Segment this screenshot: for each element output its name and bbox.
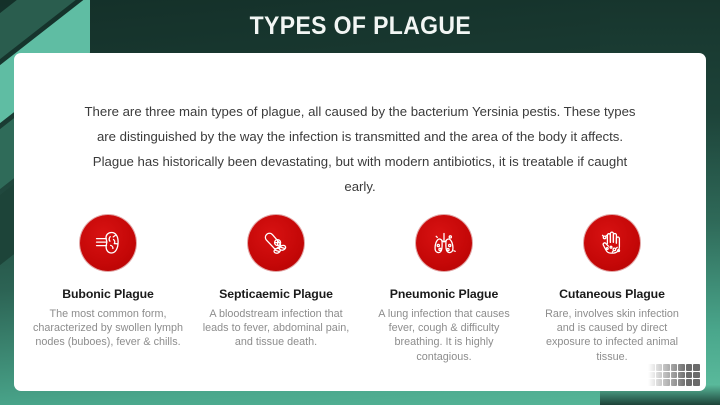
plague-type-description: A lung infection that causes fever, coug… [368,307,520,364]
plague-type-card[interactable]: Pneumonic Plague A lung infection that c… [360,215,528,364]
plague-type-description: Rare, involves skin infection and is cau… [536,307,688,364]
dot [693,364,700,371]
dot [671,364,678,371]
plague-type-card[interactable]: Septicaemic Plague A bloodstream infecti… [192,215,360,364]
plague-type-description: A bloodstream infection that leads to fe… [200,307,352,350]
dot [686,364,693,371]
decorative-dot-grid [648,364,700,386]
lymph-node-icon [91,226,125,260]
plague-type-title: Septicaemic Plague [219,287,333,301]
dot [693,379,700,386]
plague-type-card[interactable]: Bubonic Plague The most common form, cha… [24,215,192,364]
page-title: TYPES OF PLAGUE [249,12,471,41]
plague-type-card[interactable]: Cutaneous Plague Rare, involves skin inf… [528,215,696,364]
dot [678,372,685,379]
plague-type-description: The most common form, characterized by s… [32,307,184,350]
intro-paragraph: There are three main types of plague, al… [80,99,640,199]
lymph-node-icon-badge [80,215,136,271]
plague-type-title: Pneumonic Plague [390,287,498,301]
dot [671,372,678,379]
dot [656,379,663,386]
slide-header: TYPES OF PLAGUE [0,0,720,53]
plague-type-title: Bubonic Plague [62,287,154,301]
dot [656,364,663,371]
dot [671,379,678,386]
blood-vessel-cells-icon [259,226,293,260]
plague-type-title: Cutaneous Plague [559,287,665,301]
blood-vessel-cells-icon-badge [248,215,304,271]
lungs-icon [427,226,461,260]
slide-background: TYPES OF PLAGUE There are three main typ… [0,0,720,405]
plague-types-list: Bubonic Plague The most common form, cha… [24,215,696,364]
dot [686,372,693,379]
dot [648,379,655,386]
dot [693,372,700,379]
content-card: There are three main types of plague, al… [14,53,706,391]
dot [686,379,693,386]
dot [648,372,655,379]
dot [663,364,670,371]
infected-hand-icon-badge [584,215,640,271]
dot [678,379,685,386]
dot [656,372,663,379]
dot [663,379,670,386]
dot [678,364,685,371]
lungs-icon-badge [416,215,472,271]
infected-hand-icon [595,226,629,260]
dot [648,364,655,371]
dot [663,372,670,379]
